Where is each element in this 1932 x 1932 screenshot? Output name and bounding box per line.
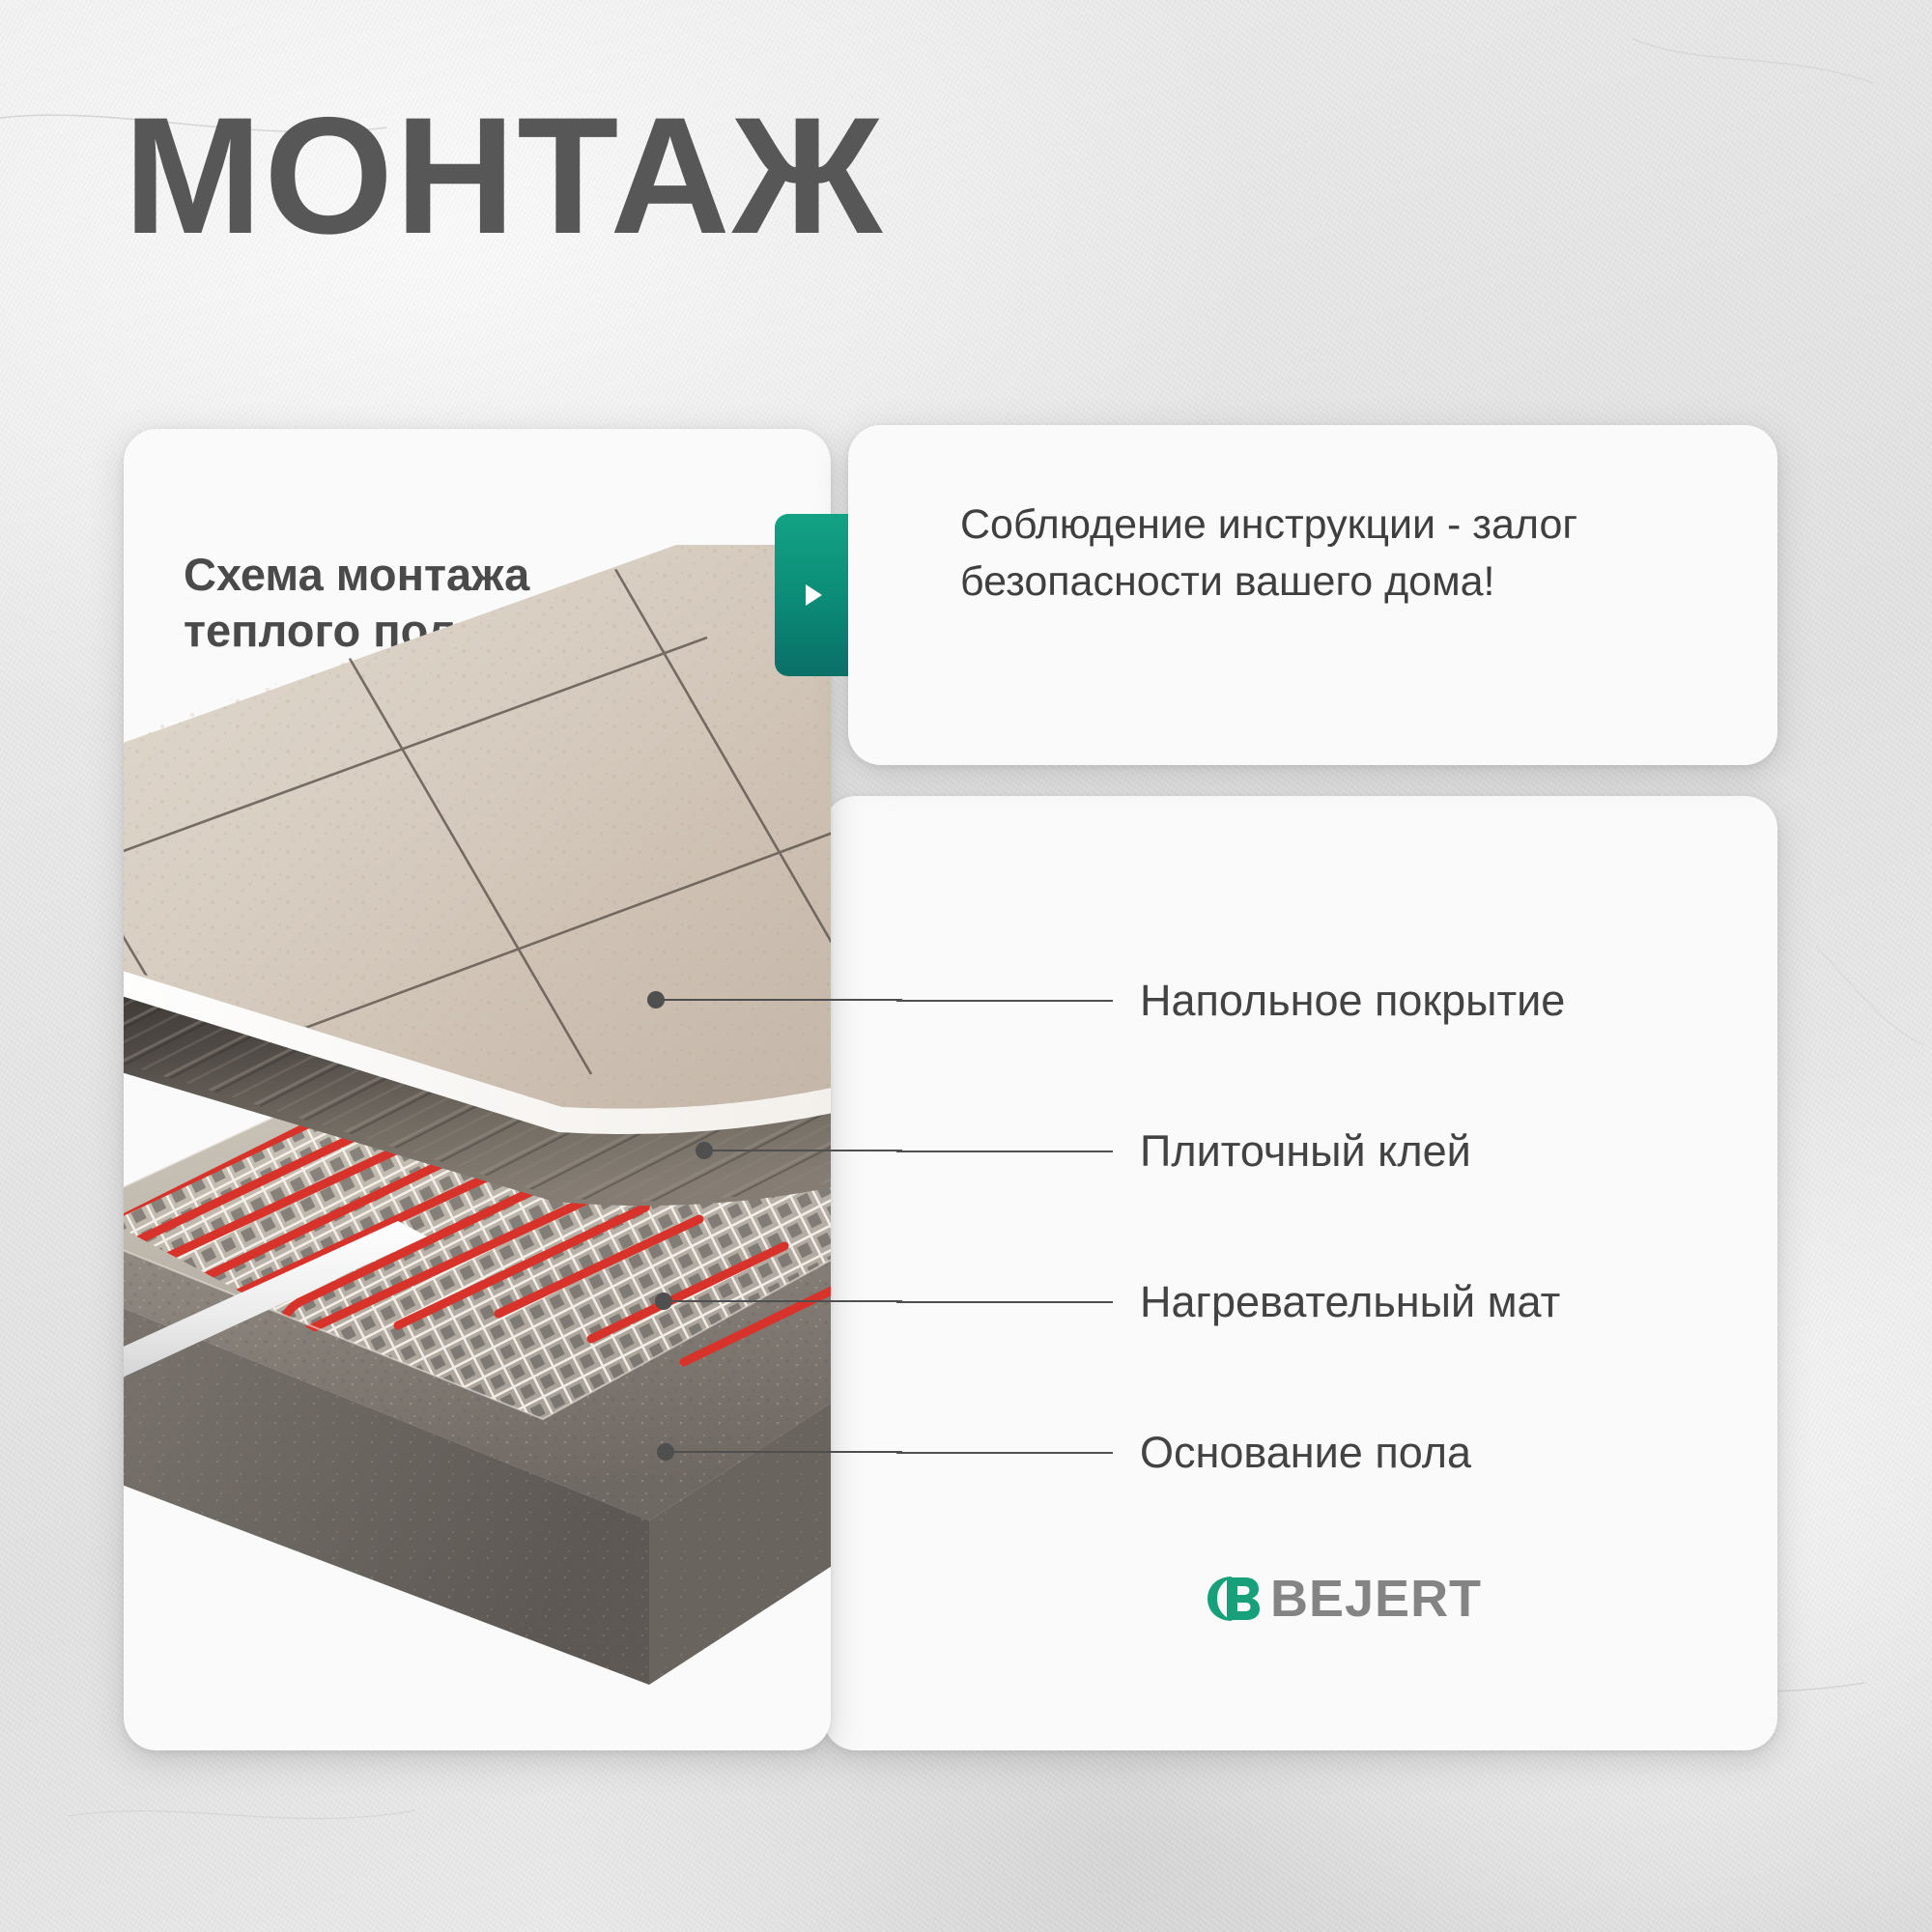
brand-logo: BEJERT — [1204, 1567, 1482, 1631]
leader-line — [896, 1000, 1113, 1002]
bejert-b-mark-icon — [1204, 1567, 1267, 1631]
legend-row: Напольное покрытие — [896, 972, 1747, 1030]
notice-text: Соблюдение инструкции - залог безопаснос… — [960, 497, 1694, 611]
leader-seg-floor-covering — [661, 999, 902, 1001]
legend-row: Плиточный клей — [896, 1122, 1747, 1180]
legend-label-tile-adhesive: Плиточный клей — [1140, 1122, 1471, 1180]
legend-row: Основание пола — [896, 1424, 1747, 1482]
legend-label-floor-base: Основание пола — [1140, 1424, 1471, 1482]
legend-label-floor-covering: Напольное покрытие — [1140, 972, 1565, 1030]
page-title: МОНТАЖ — [124, 93, 884, 259]
leader-seg-heating-mat — [668, 1300, 902, 1302]
leader-line — [896, 1151, 1113, 1152]
legend-row: Нагревательный мат — [896, 1273, 1747, 1331]
diagram-clip — [124, 429, 831, 1750]
play-arrow-icon — [806, 584, 822, 606]
underfloor-heating-layers-diagram — [124, 545, 831, 1750]
leader-line — [896, 1452, 1113, 1454]
leader-seg-floor-base — [670, 1451, 902, 1453]
notice-card: Соблюдение инструкции - залог безопаснос… — [848, 425, 1777, 765]
notice-accent-bar — [775, 514, 848, 676]
brand-name: BEJERT — [1270, 1567, 1482, 1631]
leader-line — [896, 1301, 1113, 1303]
legend-card: Напольное покрытие Плиточный клей Нагрев… — [823, 796, 1777, 1750]
scheme-card: Схема монтажа теплого пола: — [124, 429, 831, 1750]
legend-label-heating-mat: Нагревательный мат — [1140, 1273, 1560, 1331]
leader-seg-tile-adhesive — [709, 1150, 902, 1151]
